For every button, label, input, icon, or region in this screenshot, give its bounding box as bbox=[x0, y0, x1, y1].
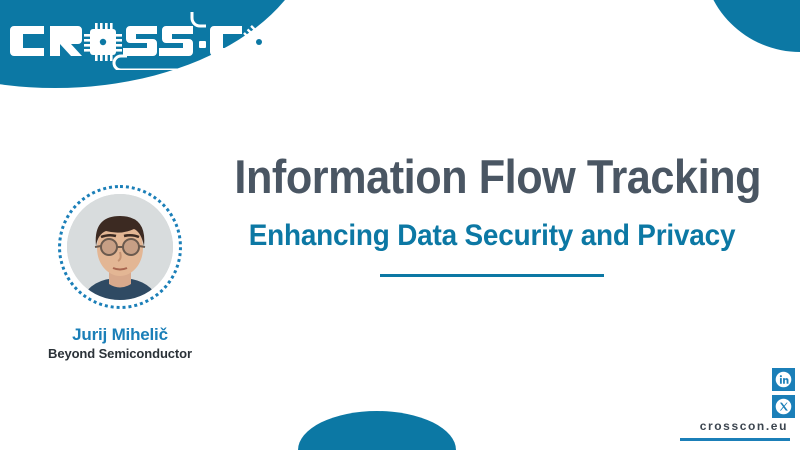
footer-website-url[interactable]: crosscon.eu bbox=[700, 419, 788, 433]
linkedin-icon[interactable] bbox=[772, 368, 795, 391]
speaker-organization: Beyond Semiconductor bbox=[16, 347, 224, 362]
speaker-name: Jurij Mihelič bbox=[16, 325, 224, 345]
social-links bbox=[772, 368, 795, 418]
crosscon-logo bbox=[10, 12, 280, 70]
title-block: Information Flow Tracking Enhancing Data… bbox=[212, 152, 772, 277]
talk-subtitle: Enhancing Data Security and Privacy bbox=[232, 219, 753, 252]
footer-accent-bar bbox=[680, 438, 790, 441]
x-twitter-icon[interactable] bbox=[772, 395, 795, 418]
bottom-blue-dome-shape bbox=[298, 411, 456, 450]
avatar-photo bbox=[67, 194, 173, 300]
avatar bbox=[58, 185, 182, 309]
title-divider-rule bbox=[380, 274, 604, 277]
presentation-slide: Jurij Mihelič Beyond Semiconductor Infor… bbox=[0, 0, 800, 450]
talk-title: Information Flow Tracking bbox=[234, 152, 749, 203]
top-right-blue-corner-shape bbox=[702, 0, 800, 52]
speaker-panel: Jurij Mihelič Beyond Semiconductor bbox=[16, 185, 224, 361]
